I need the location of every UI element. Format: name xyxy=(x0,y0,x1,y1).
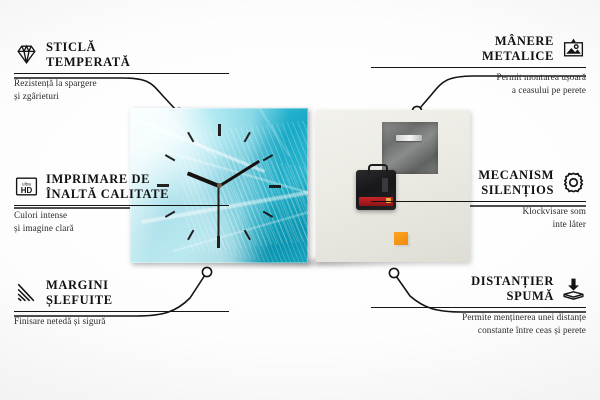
feature-title-line2: SILENȚIOS xyxy=(481,183,554,197)
feature-title-line2: METALICE xyxy=(482,49,554,63)
picture-hanger-icon xyxy=(561,36,586,61)
feature-polished-edges: MARGINI ȘLEFUITE Finisare netedă și sigu… xyxy=(14,278,229,328)
feature-heading: MARGINI ȘLEFUITE xyxy=(14,278,229,311)
feature-title-line1: MÂNERE xyxy=(495,34,554,48)
feature-title-line1: IMPRIMARE DE xyxy=(46,172,150,186)
feature-title-line2: ÎNALTĂ CALITATE xyxy=(46,187,169,201)
feature-sub-line2: constante între ceas și perete xyxy=(478,325,586,335)
diamond-icon xyxy=(14,42,39,67)
hanger-slot xyxy=(396,135,422,141)
feature-heading: STICLĂ TEMPERATĂ xyxy=(14,40,229,73)
metal-hanger-plate xyxy=(382,122,438,174)
feature-foam-spacer: DISTANȚIER SPUMĂ Permite menținerea unei… xyxy=(371,274,586,336)
foam-spacer-pad xyxy=(394,232,408,245)
polished-edges-icon xyxy=(14,280,39,305)
feature-sub-line2: a ceasului pe perete xyxy=(512,85,586,95)
feature-title-line1: STICLĂ xyxy=(46,40,96,54)
feature-title-line1: DISTANȚIER xyxy=(471,274,554,288)
feature-tempered-glass: STICLĂ TEMPERATĂ Rezistență la spargere … xyxy=(14,40,229,102)
feature-sub-line2: și imagine clară xyxy=(14,223,74,233)
feature-heading: MECANISM SILENȚIOS xyxy=(371,168,586,201)
feature-sub-line1: Permite menținerea unei distanțe xyxy=(462,312,586,322)
feature-sub-line1: Culori intense xyxy=(14,210,67,220)
gear-icon xyxy=(561,170,586,195)
feature-metal-hooks: MÂNERE METALICE Permit montarea ușoară a… xyxy=(371,34,586,96)
infographic-canvas: STICLĂ TEMPERATĂ Rezistență la spargere … xyxy=(0,0,600,400)
feature-sub-line1: Rezistență la spargere xyxy=(14,78,97,88)
feature-silent-mechanism: MECANISM SILENȚIOS Klockvisare som inte … xyxy=(371,168,586,230)
feature-sub-line2: și zgârieturi xyxy=(14,91,59,101)
feature-sub-line1: Finisare netedă și sigură xyxy=(14,316,106,326)
down-arrow-pad-icon xyxy=(561,276,586,301)
feature-title-line2: SPUMĂ xyxy=(507,289,554,303)
feature-sub-line2: inte låter xyxy=(553,219,586,229)
svg-text:HD: HD xyxy=(21,186,33,195)
feature-title-line2: ȘLEFUITE xyxy=(46,293,113,307)
feature-hd-print: ultra HD IMPRIMARE DE ÎNALTĂ CALITATE Cu… xyxy=(14,172,229,234)
feature-title-line1: MECANISM xyxy=(478,168,554,182)
ultra-hd-icon: ultra HD xyxy=(14,174,39,199)
feature-title-line2: TEMPERATĂ xyxy=(46,55,130,69)
feature-heading: DISTANȚIER SPUMĂ xyxy=(371,274,586,307)
feature-sub-line1: Permit montarea ușoară xyxy=(497,72,586,82)
feature-title-line1: MARGINI xyxy=(46,278,109,292)
feature-sub-line1: Klockvisare som xyxy=(522,206,586,216)
feature-heading: MÂNERE METALICE xyxy=(371,34,586,67)
feature-heading: ultra HD IMPRIMARE DE ÎNALTĂ CALITATE xyxy=(14,172,229,205)
